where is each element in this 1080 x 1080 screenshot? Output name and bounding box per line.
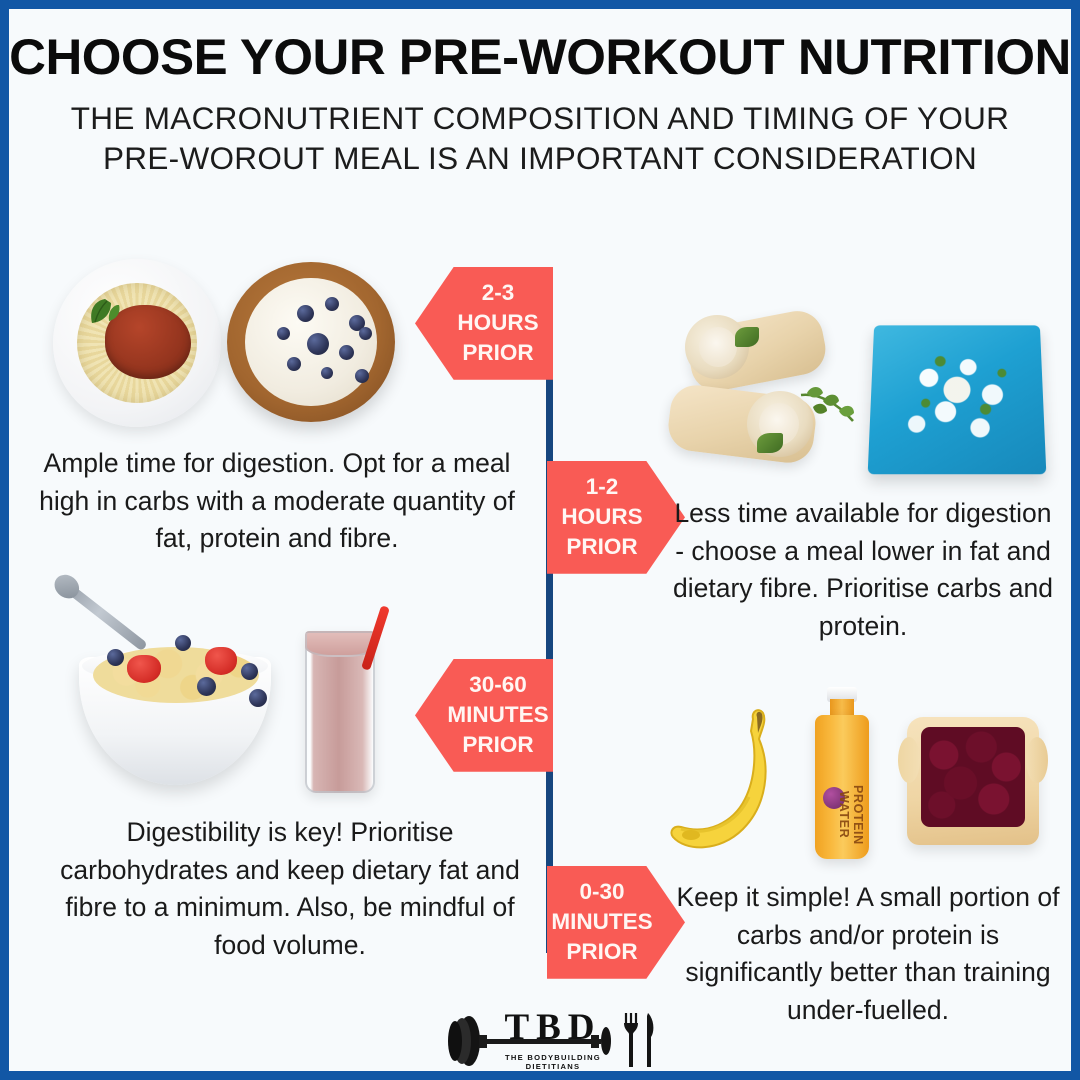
blueberry-icon [359, 327, 372, 340]
blueberry-icon [249, 689, 267, 707]
page-subtitle: THE MACRONUTRIENT COMPOSITION AND TIMING… [35, 98, 1045, 179]
infographic-poster: CHOOSE YOUR PRE-WORKOUT NUTRITION THE MA… [0, 0, 1080, 1080]
lettuce-icon [735, 327, 759, 347]
subtitle-line-1: THE MACRONUTRIENT COMPOSITION AND TIMING… [35, 98, 1045, 138]
page-title: CHOOSE YOUR PRE-WORKOUT NUTRITION [0, 31, 1080, 84]
strawberry-icon [127, 655, 161, 683]
logo-tagline: THE BODYBUILDING DIETITIANS [479, 1053, 627, 1071]
timing-badge-30-60-minutes[interactable]: 30-60 MINUTES PRIOR [415, 659, 553, 772]
blueberry-icon [107, 649, 124, 666]
blueberry-icon [355, 369, 369, 383]
timing-badge-0-30-minutes[interactable]: 0-30 MINUTES PRIOR [547, 866, 685, 979]
blueberry-icon [287, 357, 301, 371]
lettuce-icon [757, 433, 783, 453]
blue-square-plate-icon [868, 325, 1047, 474]
subtitle-line-2: PRE-WOROUT MEAL IS AN IMPORTANT CONSIDER… [35, 138, 1045, 178]
badge-line-2: HOURS [547, 502, 657, 532]
logo-wordmark: TBD [499, 1009, 607, 1046]
timing-badge-2-3-hours[interactable]: 2-3 HOURS PRIOR [415, 267, 553, 380]
banana-icon [667, 705, 787, 855]
blueberry-icon [241, 663, 258, 680]
badge-line-3: PRIOR [547, 937, 657, 967]
blueberry-icon [325, 297, 339, 311]
brand-logo: TBD THE BODYBUILDING DIETITIANS [445, 1007, 659, 1077]
step-description-1-2-hours: Less time available for digestion - choo… [669, 495, 1057, 646]
badge-line-3: PRIOR [443, 338, 553, 368]
badge-line-1: 2-3 [443, 278, 553, 308]
badge-line-2: MINUTES [547, 907, 657, 937]
badge-line-3: PRIOR [443, 730, 553, 760]
badge-line-2: HOURS [443, 308, 553, 338]
badge-line-3: PRIOR [547, 532, 657, 562]
food-image-protein-water-bottle: PROTEIN WATER [815, 687, 869, 859]
rocket-salad-icon [797, 381, 867, 447]
header: CHOOSE YOUR PRE-WORKOUT NUTRITION THE MA… [9, 31, 1071, 178]
spoon-icon [66, 585, 148, 652]
badge-line-2: MINUTES [443, 700, 553, 730]
bottle-label-text: PROTEIN WATER [819, 767, 865, 863]
blueberry-icon [321, 367, 333, 379]
berry-jam-icon [921, 727, 1025, 827]
blueberry-icon [339, 345, 354, 360]
strawberry-icon [205, 647, 237, 675]
blueberry-icon [175, 635, 191, 651]
blueberry-icon [197, 677, 216, 696]
badge-line-1: 1-2 [547, 472, 657, 502]
step-description-2-3-hours: Ample time for digestion. Opt for a meal… [37, 445, 517, 558]
step-description-30-60-minutes: Digestibility is key! Prioritise carbohy… [45, 814, 535, 965]
blueberry-icon [297, 305, 314, 322]
timing-badge-1-2-hours[interactable]: 1-2 HOURS PRIOR [547, 461, 685, 574]
badge-line-1: 0-30 [547, 877, 657, 907]
blueberry-icon [277, 327, 290, 340]
blueberry-icon [307, 333, 329, 355]
badge-line-1: 30-60 [443, 670, 553, 700]
wrap-chicken-filling-icon [699, 327, 737, 367]
step-description-0-30-minutes: Keep it simple! A small portion of carbs… [675, 879, 1061, 1030]
bottle-body-icon: PROTEIN WATER [815, 715, 869, 859]
basil-leaf-icon [87, 297, 123, 327]
